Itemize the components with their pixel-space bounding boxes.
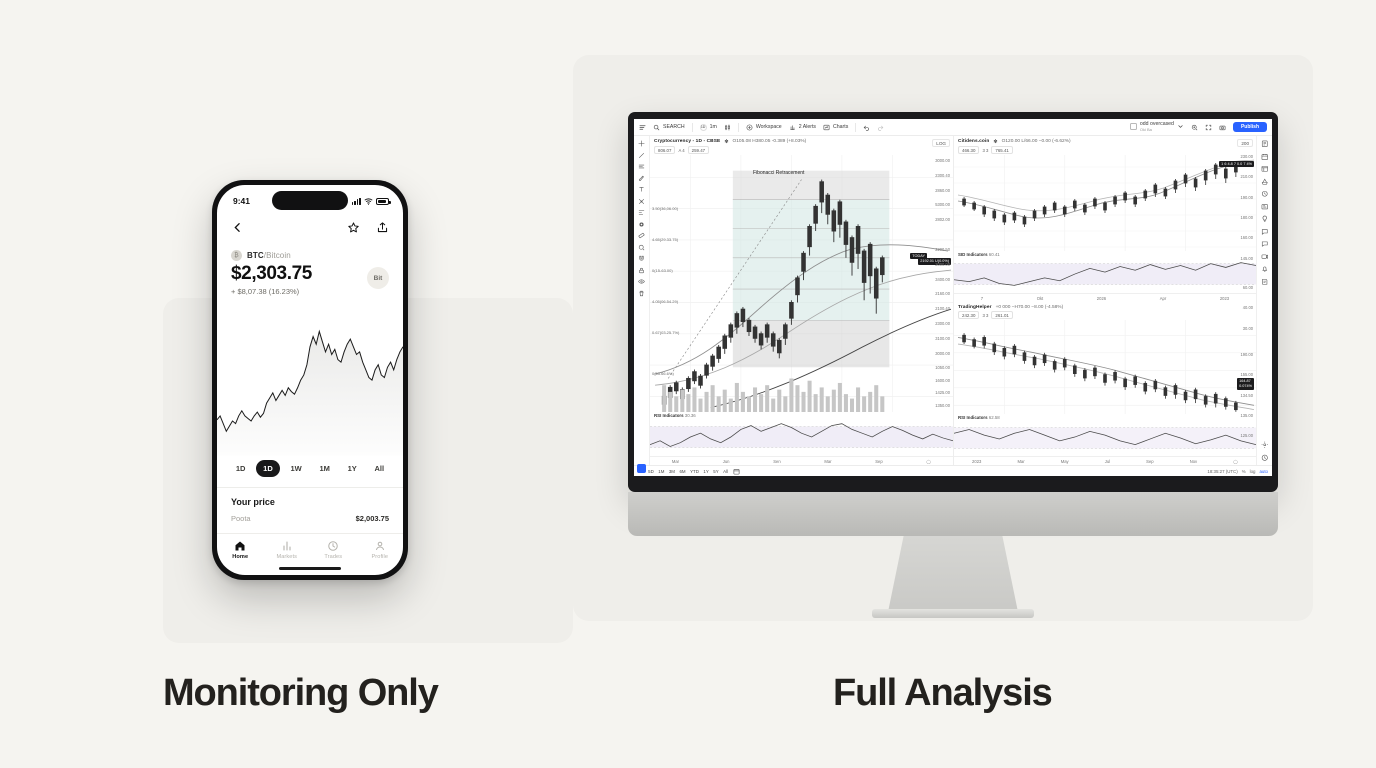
checkbox-icon [1130,123,1137,130]
ideas-icon[interactable] [1261,215,1269,223]
pane-right-xaxis: 2023 Mar May Jul Sep Nov ◯ [954,456,1256,465]
y-label-16: 1350.00 [935,403,950,408]
person-icon [374,540,386,552]
tab-trades-label: Trades [324,554,342,560]
your-price-key: Poota [231,514,251,523]
range-chip-1[interactable]: 1D [256,460,280,477]
pane-right-chip-a[interactable]: 466.30 [958,146,979,154]
pane-right-chip-b[interactable]: 765.41 [991,146,1012,154]
y-label-12: 3000.00 [935,351,950,356]
tab-home-label: Home [232,554,248,560]
x-label-3: Mar [824,459,831,464]
top-x-4: 2023 [1220,296,1229,301]
divider [738,123,739,132]
publish-button[interactable]: Publish [1233,122,1267,132]
clock-icon[interactable] [1261,454,1269,462]
phone-chart-svg [217,302,403,456]
chevron-down-icon [1177,123,1184,130]
y-label-0: 3000.00 [935,158,950,163]
y-label-3: 5300.00 [935,202,950,207]
wifi-icon [364,197,373,206]
pane-left-yaxis: 3000.00 2300.40 2860.00 5300.00 2802.00 … [926,158,952,405]
phone-screen: 9:41 ₿ BTC/Bitcoin [217,185,403,575]
pane-left-chip-a[interactable]: 806.07 [654,146,675,154]
caption-monitoring-only: Monitoring Only [163,672,438,715]
battery-icon [376,198,389,205]
desktop-monitor: SEARCH 1D 1m Workspace 2 Alerts [628,112,1278,492]
top-x-1: Okt [1037,296,1044,301]
range-5y[interactable]: 5Y [713,469,718,474]
ry-3: 180.00 [1240,215,1253,220]
pane-right-scale-button[interactable]: 200 [1237,139,1253,147]
pane-left: Cryptocurrency - 1D - CBSE ✻ O105.08 H38… [650,136,953,465]
fibonacci-retracement-label: Fibonacci Retracement [753,170,804,176]
ry-0: 230.00 [1240,154,1253,159]
pane-right-ohlc: O120.00 L/66.00 −0.00 (-6.62%) [1002,139,1071,144]
monitor-neck [888,536,1018,612]
pane-left-title: Cryptocurrency - 1D - CBSE [654,139,720,144]
range-1m[interactable]: 1M [658,469,664,474]
text-icon[interactable] [638,186,645,193]
scale-percent-toggle[interactable]: % [1242,469,1246,474]
ry-9: 190.00 [1240,352,1253,357]
fullscreen-icon[interactable] [1205,124,1212,131]
y-label-4: 2802.00 [935,217,950,222]
tradinghelper-title: TradingHelper [958,305,992,310]
star-icon[interactable] [347,221,360,234]
pane-right-rsi-plot[interactable] [954,420,1256,456]
scale-log-toggle[interactable]: log [1250,469,1256,474]
monitor-foot [872,609,1034,618]
range-all[interactable]: All [723,469,728,474]
tradinghelper-ohlc: +0 000 −H70.00 −8.00 (-4.58%) [996,305,1064,310]
ry-13: 125.00 [1240,433,1253,438]
your-price-title: Your price [217,488,403,512]
ry-4: 160.00 [1240,235,1253,240]
y-label-8: 2160.00 [935,291,950,296]
ry-6: 60.00 [1243,285,1253,290]
y-label-13: 1050.00 [935,365,950,370]
x-label-1: Jun [723,459,730,464]
top-x-0: 7 [981,296,983,301]
sid-svg [954,257,1256,293]
tab-markets[interactable]: Markets [264,540,311,560]
top-x-2: 2026 [1097,296,1106,301]
comparison-layout: 9:41 ₿ BTC/Bitcoin [0,0,1376,768]
range-chip-5[interactable]: All [368,460,392,477]
x-label-2: Sen [773,459,780,464]
pane-left-plot[interactable]: Fibonacci Retracement 3.50(36,06.00) 4.6… [650,155,953,412]
pane-left-ohlc: O105.08 H380.05 -0.389 (+8.03%) [733,139,807,144]
drawing-tools-sidebar[interactable] [634,136,650,465]
chart-type-button[interactable] [724,124,731,131]
horizontal-lines-icon[interactable] [638,163,645,170]
calendar-icon[interactable] [1261,153,1269,161]
range-6m[interactable]: 6M [679,469,685,474]
pane-left-rsi-plot[interactable] [650,418,953,456]
coin-icon: ₿ [231,250,242,261]
pane-right-title: Citidens.coin [958,139,989,144]
undo-icon[interactable] [863,124,870,131]
monitor-chin [628,492,1278,536]
y-label-6: 2000.00 [935,262,950,267]
stream-icon[interactable] [1261,253,1269,261]
y-label-14: 1600.00 [935,378,950,383]
zoom-icon[interactable] [1191,124,1198,131]
chevron-left-icon[interactable] [231,221,244,234]
tab-profile-label: Profile [371,554,388,560]
redo-icon[interactable] [877,124,884,131]
fib-level-3: 4.05(06.54.29) [652,299,678,304]
phone-nav-bar [217,211,403,238]
crosshair-icon[interactable] [638,140,645,147]
fib-level-1: 4.65(29.33.75) [652,237,678,242]
asset-symbol: BTC/Bitcoin [247,251,291,260]
y-label-15: 1425.00 [935,390,950,395]
fib-level-2: 0(15-63.00) [652,268,673,273]
y-label-7: 3400.00 [935,277,950,282]
range-selector[interactable]: 1D 1D 1W 1M 1Y All [217,456,403,487]
magnifier-icon[interactable] [638,244,645,251]
home-icon [234,540,246,552]
ry-5: 145.00 [1240,256,1253,261]
app-toolbar: SEARCH 1D 1m Workspace 2 Alerts [634,119,1272,136]
messages-icon[interactable] [1261,240,1269,248]
status-right: 18:35:27 (UTC) % log auto [1207,469,1268,474]
phone-device: 9:41 ₿ BTC/Bitcoin [212,180,408,580]
interval-label: 1m [710,124,717,130]
symbol-search[interactable]: SEARCH [653,124,685,131]
alerts-button[interactable]: 2 Alerts [789,124,816,131]
pane-left-chip-mid: A 4 [678,148,684,153]
charts-label: Charts [833,124,848,130]
chart-panes: Cryptocurrency - 1D - CBSE ✻ O105.08 H38… [650,136,1256,465]
status-time: 9:41 [233,196,250,206]
interval-circle: 1D [700,124,707,131]
pane-left-xaxis: Mar Jun Sen Mar Sep ◯ [650,456,953,465]
pane-right-header: Citidens.coin ✻ O120.00 L/66.00 −0.00 (-… [954,136,1256,155]
indicators-icon [746,124,753,131]
rx-5: Nov [1190,459,1197,464]
asset-badge: Bit [367,267,389,289]
reset-scale-icon[interactable]: ◯ [926,459,931,464]
sid-plot[interactable] [954,257,1256,293]
interval-badge[interactable]: 1D 1m [700,124,717,131]
app-bottom-bar: 1D 5D 1M 3M 6M YTD 1Y 5Y All 18:35:27 (U… [634,465,1272,476]
tradinghelper-chip-a[interactable]: 242.30 [958,311,979,319]
share-icon[interactable] [376,221,389,234]
phone-price-chart [217,296,403,456]
tab-trades[interactable]: Trades [310,540,357,560]
camera-icon[interactable] [1219,124,1226,131]
y-label-5: 2200.50 [935,247,950,252]
price-value: $2,303.75 [231,263,312,285]
your-price-row: Poota $2,003.75 [217,512,403,533]
ruler-icon[interactable] [638,232,645,239]
reset-scale-icon[interactable]: ◯ [1233,459,1238,464]
ry-2: 190.00 [1240,195,1253,200]
hotlist-icon[interactable] [1261,178,1269,186]
bell-icon[interactable] [1261,265,1269,273]
your-price-value: $2,003.75 [356,514,389,523]
range-ytd[interactable]: YTD [690,469,699,474]
ry-11: 134.50 [1240,393,1253,398]
tab-profile[interactable]: Profile [357,540,404,560]
pane-left-chip-b[interactable]: 259.47 [688,146,709,154]
lock-icon[interactable] [638,267,645,274]
fork-icon[interactable] [638,198,645,205]
patterns-icon[interactable] [638,209,645,216]
y-label-1: 2300.40 [935,173,950,178]
range-chip-3[interactable]: 1M [312,460,336,477]
menu-button[interactable] [639,124,646,131]
tradinghelper-chip-mid: 3 3 [982,313,988,318]
cursor-tag: TODAY [910,253,927,260]
rx-3: Jul [1105,459,1110,464]
rx-0: 2023 [972,459,981,464]
alerts-icon [789,124,796,131]
caption-full-analysis: Full Analysis [833,672,1052,715]
status-indicator[interactable] [637,464,646,473]
app-body: Cryptocurrency - 1D - CBSE ✻ O105.08 H38… [634,136,1272,465]
desktop-screen: SEARCH 1D 1m Workspace 2 Alerts [634,119,1272,476]
candlestick-icon [724,124,731,131]
price-row: $2,303.75 + $8,07.38 (16.23%) Bit [217,261,403,296]
ry-8: 30.00 [1243,326,1253,331]
y-label-11: 3100.00 [935,336,950,341]
price-change: + $8,07.38 (16.23%) [231,285,312,296]
ry-1: 210.00 [1240,174,1253,179]
settings-icon[interactable] [1261,441,1269,449]
workspace-label: Workspace [756,124,782,130]
divider [692,123,693,132]
divider [855,123,856,132]
rx-4: Sep [1146,459,1153,464]
shapes-icon[interactable] [638,221,645,228]
y-label-9: 2100.40 [935,306,950,311]
range-buttons[interactable]: 1D 5D 1M 3M 6M YTD 1Y 5Y All [638,468,740,475]
datawindow-icon[interactable] [1261,165,1269,173]
fib-level-4: 0.67(03.25.7%) [652,330,679,335]
x-label-0: Mar [672,459,679,464]
alerts-label: 2 Alerts [799,124,816,130]
magnet-icon[interactable] [638,255,645,262]
brush-icon[interactable] [638,175,645,182]
fib-level-5: 0(55.66.6%) [652,371,674,376]
tradinghelper-chip-b[interactable]: 261.01 [991,311,1012,319]
pane-right-plot-top[interactable]: 1 6 4.8 7 0.0 7 4% [954,155,1256,251]
range-3m[interactable]: 3M [669,469,675,474]
tradinghelper-header: TradingHelper +0 000 −H70.00 −8.00 (-4.5… [954,302,1256,320]
pane-right-chip-mid: 3 3 [982,148,988,153]
chat-icon[interactable] [1261,228,1269,236]
range-chip-4[interactable]: 1Y [341,460,364,477]
ry-10: 155.00 [1240,372,1253,377]
right-sidebar[interactable] [1256,136,1272,465]
fibonacci-levels: 3.50(36,06.00) 4.65(29.33.75) 0(15-63.00… [652,155,722,412]
charts-icon [823,124,830,131]
charts-button[interactable]: Charts [823,124,848,131]
notes-icon[interactable] [1261,278,1269,286]
search-icon [653,124,660,131]
rx-2: May [1061,459,1069,464]
trendline-icon[interactable] [638,152,645,159]
rx-1: Mar [1017,459,1024,464]
calendar-range-icon[interactable] [733,468,740,475]
tradinghelper-svg [954,320,1256,414]
y-label-2: 2860.00 [935,188,950,193]
rsi-svg-right [954,420,1256,456]
scale-auto-toggle[interactable]: auto [1259,469,1268,474]
checkbox-sublabel: Oki Ba [1140,128,1174,132]
overcast-checkbox[interactable]: odd overcased Oki Ba [1130,122,1184,132]
phone-notch [272,191,348,210]
pane-left-header: Cryptocurrency - 1D - CBSE ✻ O105.08 H38… [650,136,953,155]
ry-12: 135.00 [1240,413,1253,418]
home-indicator [279,567,341,570]
tradinghelper-plot[interactable]: 164.870.074% [954,320,1256,414]
bars-chart-icon [281,540,293,552]
pane-right: Citidens.coin ✻ O120.00 L/66.00 −0.00 (-… [953,136,1256,465]
x-label-4: Sep [875,459,882,464]
tab-markets-label: Markets [276,554,297,560]
eye-icon[interactable] [638,278,645,285]
range-1y[interactable]: 1Y [703,469,708,474]
range-5d[interactable]: 5D [648,469,654,474]
pane-right-yaxis: 230.00 210.00 190.00 180.00 160.00 145.0… [1229,154,1255,445]
workspace-button[interactable]: Workspace [746,124,782,131]
tab-home[interactable]: Home [217,540,264,560]
ry-7: 40.00 [1243,305,1253,310]
signal-bars-icon [352,198,361,205]
asset-row: ₿ BTC/Bitcoin [217,238,403,261]
bottom-tab-bar[interactable]: Home Markets Trades Profile [217,533,403,564]
rsi-svg-left [650,418,953,456]
trash-icon[interactable] [638,290,645,297]
search-label: SEARCH [663,124,685,130]
y-label-10: 2300.00 [935,321,950,326]
alerts-icon[interactable] [1261,190,1269,198]
top-x-3: Apr [1160,296,1167,301]
pie-clock-icon [327,540,339,552]
range-chip-0[interactable]: 1D [229,460,253,477]
fib-level-0: 3.50(36,06.00) [652,206,678,211]
range-chip-2[interactable]: 1W [283,460,308,477]
pane-left-scale-button[interactable]: LOG [932,139,950,147]
pane-right-chart-svg [954,155,1256,251]
sid-xaxis: 7 Okt 2026 Apr 2023 [954,293,1256,302]
hamburger-menu-icon [639,124,646,131]
news-icon[interactable] [1261,203,1269,211]
watchlist-icon[interactable] [1261,140,1269,148]
utc-timestamp: 18:35:27 (UTC) [1207,469,1237,474]
